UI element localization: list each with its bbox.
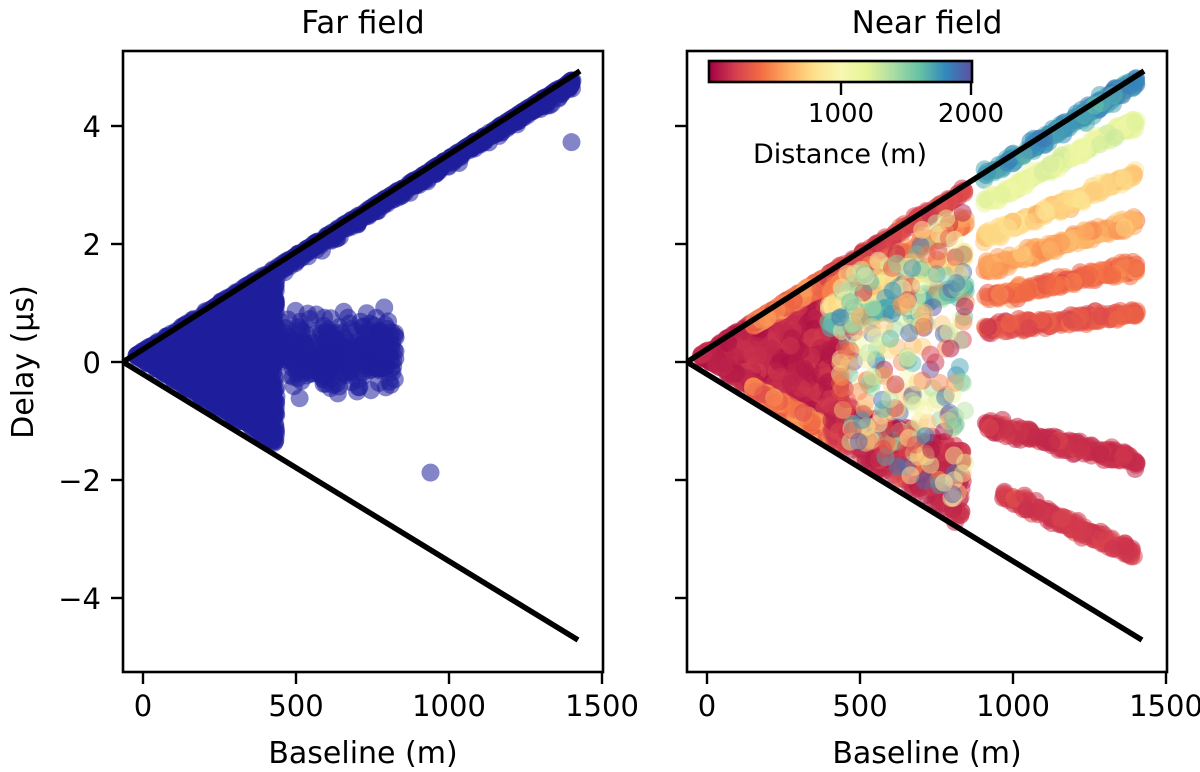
- x-tick-label-1000-near: 1000: [976, 689, 1050, 723]
- x-tick-label-0-near: 0: [698, 689, 716, 723]
- x-tick-label-1000: 1000: [412, 689, 486, 723]
- x-tick-label-0: 0: [134, 689, 152, 723]
- x-axis-label-near: Baseline (m): [832, 736, 1021, 771]
- y-tick-label-neg2: −2: [58, 464, 101, 498]
- figure-canvas: Far field 4 2 0 −2 −4 0: [0, 0, 1200, 772]
- panel-title-far: Far field: [301, 5, 424, 41]
- colorbar-label: Distance (m): [753, 139, 927, 170]
- y-tick-label-0: 0: [83, 346, 101, 380]
- x-tick-label-1500-near: 1500: [1129, 689, 1200, 723]
- x-tick-label-500-near: 500: [832, 689, 887, 723]
- y-tick-label-4: 4: [83, 110, 101, 144]
- colorbar-tick-label-1000: 1000: [808, 99, 874, 129]
- y-tick-label-2: 2: [83, 228, 101, 262]
- panel-title-near: Near field: [852, 5, 1003, 41]
- x-tick-label-1500: 1500: [565, 689, 639, 723]
- colorbar-tick-label-2000: 2000: [938, 99, 1004, 129]
- x-tick-label-500: 500: [268, 689, 323, 723]
- y-axis-label-far: Delay (μs): [6, 285, 41, 439]
- y-tick-label-neg4: −4: [58, 582, 101, 616]
- colorbar-gradient: [709, 61, 972, 82]
- x-axis-label-far: Baseline (m): [268, 736, 457, 771]
